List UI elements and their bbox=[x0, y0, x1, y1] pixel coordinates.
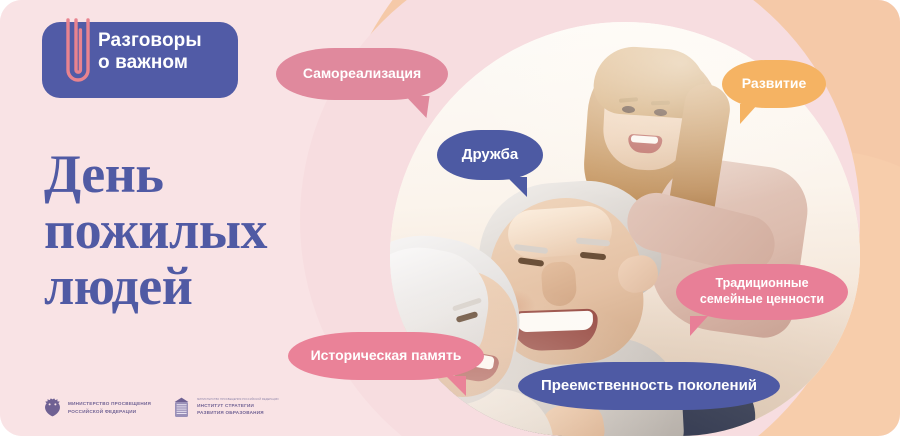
logo-ministry-line2: Российской Федерации bbox=[68, 409, 136, 414]
page-title-line1: День bbox=[44, 144, 163, 204]
brand-badge-line1: Разговоры bbox=[98, 30, 202, 51]
footer-logos: Министерство просвещения Российской Феде… bbox=[44, 397, 279, 418]
bubble-preemstvennost-label: Преемственность поколений bbox=[541, 377, 757, 396]
bubble-druzhba[interactable]: Дружба bbox=[437, 130, 543, 180]
bubble-tradicionnye-line1: Традиционные bbox=[715, 276, 808, 290]
bubble-samorealizaciya[interactable]: Самореализация bbox=[276, 48, 448, 100]
brand-badge-text: Разговоры о важном bbox=[98, 30, 248, 75]
logo-institute-line2: развития образования bbox=[197, 410, 264, 415]
bubble-tail bbox=[740, 104, 758, 124]
bubble-tail bbox=[690, 316, 708, 336]
brand-badge-line2: о важном bbox=[98, 52, 188, 73]
logo-institute-text: Министерство просвещения Российской Феде… bbox=[197, 398, 279, 416]
grandfather-forehead-highlight bbox=[506, 204, 613, 259]
logo-institute-line1: Институт стратегии bbox=[197, 403, 254, 408]
bubble-tail bbox=[402, 96, 429, 118]
girl-eyebrow-right bbox=[651, 101, 670, 106]
bubble-preemstvennost-pokolenij[interactable]: Преемственность поколений bbox=[518, 362, 780, 410]
logo-ministry-of-education: Министерство просвещения Российской Феде… bbox=[44, 398, 151, 417]
logo-ministry-line1: Министерство просвещения bbox=[68, 401, 151, 406]
page-title-line2: пожилых bbox=[44, 200, 267, 260]
bubble-razvitie[interactable]: Развитие bbox=[722, 60, 826, 108]
bubble-istoricheskaya-pamyat-label: Историческая память bbox=[311, 347, 462, 365]
bubble-samorealizaciya-label: Самореализация bbox=[303, 65, 421, 83]
poster-banner: Разговоры о важном День пожилых людей Са… bbox=[0, 0, 900, 436]
bubble-druzhba-label: Дружба bbox=[462, 146, 518, 165]
page-title: День пожилых людей bbox=[44, 146, 374, 314]
double-headed-eagle-icon bbox=[44, 398, 61, 417]
bubble-tail bbox=[446, 376, 466, 396]
institute-building-icon bbox=[173, 397, 190, 418]
grandfather-teeth bbox=[517, 311, 594, 333]
grandfather-nose bbox=[541, 261, 578, 307]
bubble-tradicionnye-line2: семейные ценности bbox=[700, 292, 824, 306]
bubble-tradicionnye-text: Традиционные семейные ценности bbox=[700, 276, 824, 307]
page-title-line3: людей bbox=[44, 256, 192, 316]
bubble-istoricheskaya-pamyat[interactable]: Историческая память bbox=[288, 332, 484, 380]
logo-institute-superline: Министерство просвещения Российской Феде… bbox=[197, 398, 279, 402]
bubble-tradicionnye-cennosti[interactable]: Традиционные семейные ценности bbox=[676, 264, 848, 320]
paperclip-icon bbox=[56, 14, 100, 100]
bubble-razvitie-label: Развитие bbox=[742, 75, 807, 93]
bubble-tail bbox=[507, 177, 527, 197]
logo-institute-of-education-strategy: Министерство просвещения Российской Феде… bbox=[173, 397, 279, 418]
logo-ministry-text: Министерство просвещения Российской Феде… bbox=[68, 400, 151, 414]
